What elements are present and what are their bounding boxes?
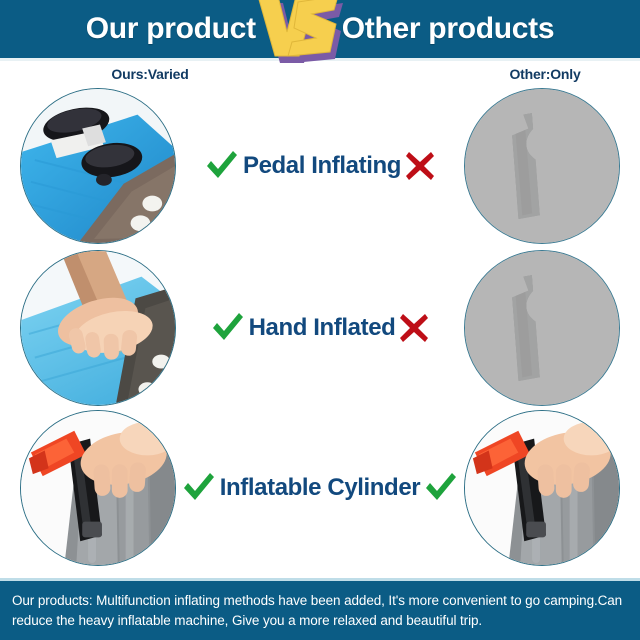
header-right-title: Other products	[342, 14, 554, 44]
header-left-title: Our product	[86, 14, 256, 44]
pedal-pump-photo	[20, 88, 176, 244]
red-cross-icon	[399, 313, 429, 343]
hand-cylinder-photo-faded	[464, 88, 620, 244]
hand-pressing-photo	[20, 250, 176, 406]
green-check-icon	[182, 471, 216, 505]
column-label-ours: Ours:Varied	[60, 66, 240, 82]
footer-caption-banner: Our products: Multifunction inflating me…	[0, 578, 640, 640]
column-label-other: Other:Only	[455, 66, 635, 82]
green-check-icon	[211, 311, 245, 345]
product-comparison-infographic: Our product Other products Ours:Varied O…	[0, 0, 640, 640]
comparison-row: Hand Inflated	[0, 248, 640, 408]
header-banner: Our product Other products	[0, 0, 640, 58]
comparison-row: Inflatable Cylinder	[0, 408, 640, 568]
row-label-text: Inflatable Cylinder	[220, 476, 420, 500]
green-check-icon	[424, 471, 458, 505]
row-label-text: Hand Inflated	[249, 316, 396, 340]
comparison-row: Pedal Inflating	[0, 86, 640, 246]
inflatable-cylinder-photo	[464, 410, 620, 566]
inflatable-cylinder-photo	[20, 410, 176, 566]
row-label-group: Pedal Inflating	[176, 86, 464, 246]
red-cross-icon	[405, 151, 435, 181]
row-label-group: Hand Inflated	[176, 248, 464, 408]
row-label-text: Pedal Inflating	[243, 154, 401, 178]
green-check-icon	[205, 149, 239, 183]
row-label-group: Inflatable Cylinder	[176, 408, 464, 568]
footer-caption-text: Our products: Multifunction inflating me…	[0, 591, 640, 630]
hand-cylinder-photo-faded	[464, 250, 620, 406]
vs-badge-icon	[256, 0, 342, 58]
